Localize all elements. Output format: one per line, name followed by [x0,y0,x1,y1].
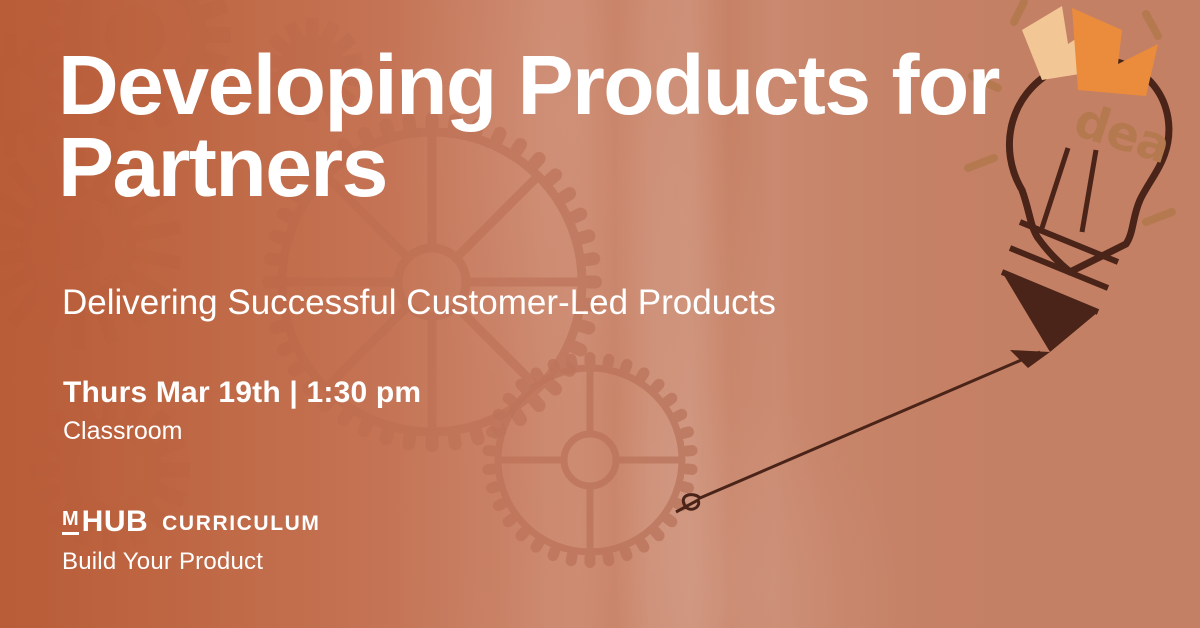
mhub-m-mark: M [62,509,79,536]
event-banner: dea Developing Products for Partners Del… [0,0,1200,628]
event-datetime: Thurs Mar 19th | 1:30 pm [63,376,421,410]
mhub-hub-letters: HUB [82,508,149,537]
logo-row: M HUB CURRICULUM [62,503,321,536]
mhub-m-underline [62,532,79,535]
subtitle: Delivering Successful Customer-Led Produ… [62,283,776,323]
mhub-m-letter: M [62,509,79,529]
mhub-logo: M HUB [62,508,148,537]
program-tagline: Build Your Product [62,548,321,576]
curriculum-label: CURRICULUM [162,513,320,536]
event-location: Classroom [63,417,182,446]
page-title: Developing Products for Partners [58,44,1118,209]
logo-lockup: M HUB CURRICULUM Build Your Product [62,503,321,576]
